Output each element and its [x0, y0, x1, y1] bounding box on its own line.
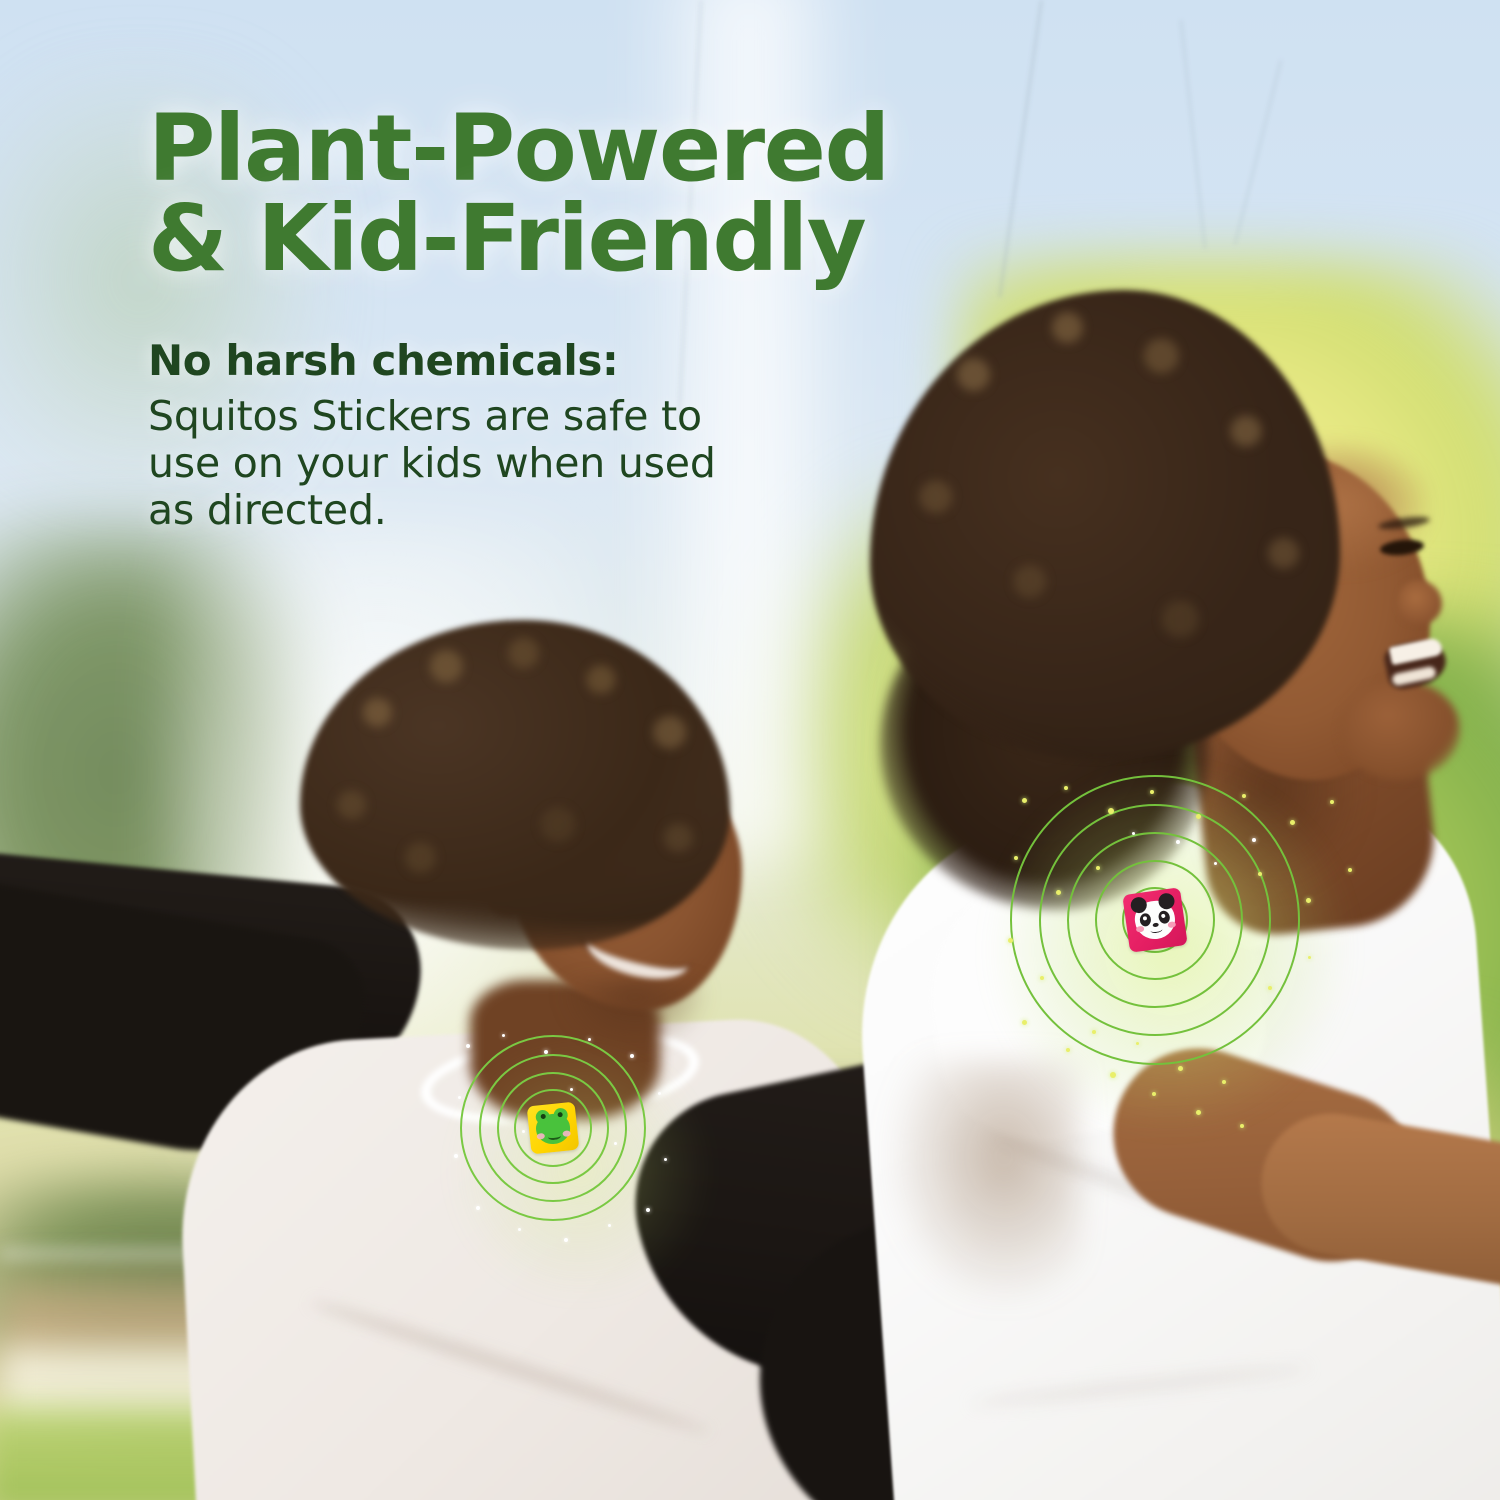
frog-cheek-left	[537, 1133, 546, 1140]
panda-mouth	[1150, 926, 1163, 934]
frog-sticker	[527, 1102, 580, 1155]
subheading: No harsh chemicals:	[148, 336, 1000, 385]
frog-eye-left	[535, 1109, 550, 1124]
frog-cheek-right	[562, 1130, 571, 1137]
marketing-copy: Plant-Powered & Kid-Friendly No harsh ch…	[0, 0, 1000, 534]
panda-sticker	[1122, 887, 1188, 953]
panda-ear-right	[1157, 892, 1175, 910]
body-copy: Squitos Stickers are safe to use on your…	[148, 393, 848, 533]
frog-eye-right	[553, 1107, 568, 1122]
product-lifestyle-banner: Plant-Powered & Kid-Friendly No harsh ch…	[0, 0, 1500, 1500]
child-right-shadow	[890, 1060, 1080, 1300]
panda-face	[1133, 898, 1178, 941]
page-title: Plant-Powered & Kid-Friendly	[148, 104, 1000, 284]
panda-cheek-left	[1136, 926, 1145, 933]
panda-ear-left	[1130, 896, 1148, 914]
child-right-nose	[1398, 580, 1442, 624]
panda-cheek-right	[1167, 921, 1176, 928]
panda-eye-left	[1140, 913, 1151, 926]
frog-face	[535, 1112, 572, 1145]
child-right-chin	[1340, 680, 1460, 780]
child-left	[0, 600, 900, 1500]
frog-mouth	[548, 1132, 562, 1140]
child-left-hair-texture	[300, 620, 730, 950]
